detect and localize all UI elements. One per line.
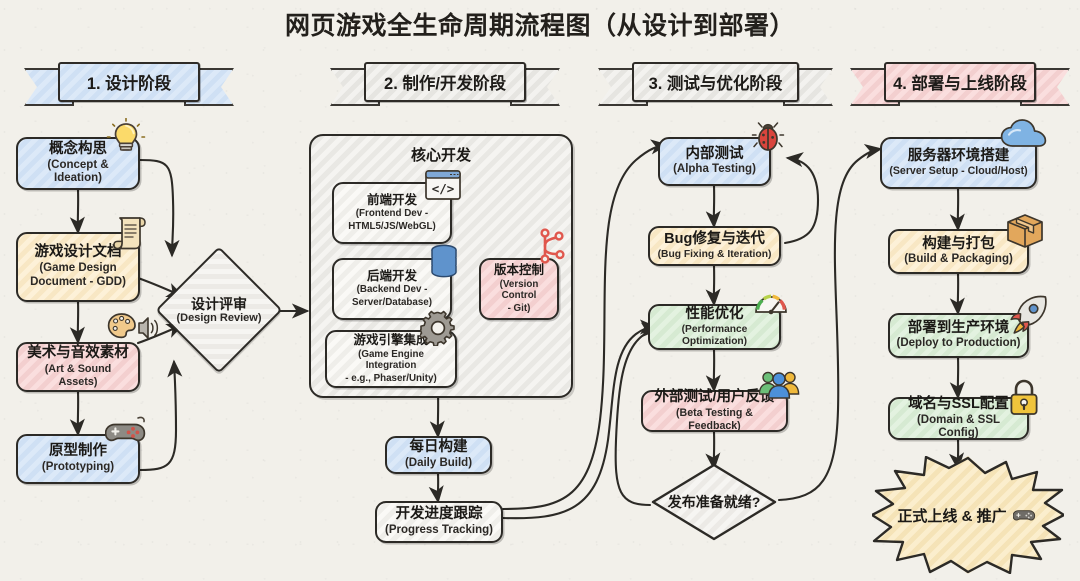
node-alpha-en: (Alpha Testing) — [673, 163, 756, 177]
group-core-development-title: 核心开发 — [311, 144, 571, 165]
phase-banner-label-2: 2. 制作/开发阶段 — [364, 62, 526, 102]
node-server-setup[interactable]: 服务器环境搭建 (Server Setup - Cloud/Host) — [880, 137, 1037, 189]
node-progress-zh: 开发进度跟踪 — [396, 506, 483, 523]
node-design-review[interactable]: 设计评审 (Design Review) — [174, 265, 264, 355]
node-official-launch[interactable]: 正式上线 & 推广 — [872, 456, 1064, 574]
node-bug-fixing[interactable]: Bug修复与迭代 (Bug Fixing & Iteration) — [648, 226, 781, 266]
node-engine-zh: 游戏引擎集成 — [353, 333, 428, 347]
node-server-en: (Server Setup - Cloud/Host) — [889, 165, 1027, 178]
node-beta-en: (Beta Testing & Feedback) — [649, 407, 780, 432]
phase-banner-2: 2. 制作/开发阶段 — [330, 62, 560, 100]
node-perf-en: (Performance Optimization) — [656, 324, 773, 348]
node-alpha-zh: 内部测试 — [686, 146, 744, 163]
node-server-zh: 服务器环境搭建 — [908, 148, 1010, 165]
node-vcs-en-line1: (Version Control — [487, 279, 551, 303]
node-backend-en-line1: (Backend Dev - — [357, 284, 428, 296]
node-progress-tracking[interactable]: 开发进度跟踪 (Progress Tracking) — [375, 501, 503, 543]
node-engine-en-line1: (Game Engine Integration — [333, 349, 449, 373]
phase-banner-label-1: 1. 设计阶段 — [58, 62, 200, 102]
node-backend-dev[interactable]: 后端开发 (Backend Dev - Server/Database) — [332, 258, 452, 320]
node-game-engine-integration[interactable]: 游戏引擎集成 (Game Engine Integration - e.g., … — [325, 330, 457, 388]
node-daily-build-zh: 每日构建 — [410, 439, 468, 456]
node-deploy-production[interactable]: 部署到生产环境 (Deploy to Production) — [888, 313, 1029, 358]
node-gdd-en-line1: (Game Design — [39, 262, 116, 276]
node-domain-ssl[interactable]: 域名与SSL配置 (Domain & SSL Config) — [888, 397, 1029, 440]
node-art-sound-assets[interactable]: 美术与音效素材 (Art & Sound Assets) — [16, 342, 140, 392]
node-daily-build[interactable]: 每日构建 (Daily Build) — [385, 436, 492, 474]
node-frontend-dev[interactable]: 前端开发 (Frontend Dev - HTML5/JS/WebGL) — [332, 182, 452, 244]
node-daily-build-en: (Daily Build) — [405, 457, 472, 471]
node-frontend-zh: 前端开发 — [367, 193, 417, 207]
node-review-en: (Design Review) — [177, 312, 262, 324]
node-beta-zh: 外部测试/用户反馈 — [654, 389, 774, 406]
node-performance-optimization[interactable]: 性能优化 (Performance Optimization) — [648, 304, 781, 350]
node-bugfix-en: (Bug Fixing & Iteration) — [658, 249, 772, 261]
node-package-en: (Build & Packaging) — [904, 253, 1013, 267]
node-vcs-en-line2: - Git) — [508, 303, 531, 315]
node-release-ready[interactable]: 发布准备就绪? — [650, 462, 778, 542]
node-engine-en-line2: - e.g., Phaser/Unity) — [345, 373, 436, 385]
node-deploy-zh: 部署到生产环境 — [908, 320, 1010, 337]
node-gdd-en-line2: Document - GDD) — [30, 276, 126, 290]
phase-banner-label-3: 3. 测试与优化阶段 — [632, 62, 799, 102]
node-prototype-en: (Prototyping) — [42, 461, 114, 475]
node-version-control[interactable]: 版本控制 (Version Control - Git) — [479, 258, 559, 320]
node-frontend-en-line2: HTML5/JS/WebGL) — [348, 221, 435, 233]
node-assets-en: (Art & Sound Assets) — [24, 363, 132, 389]
node-progress-en: (Progress Tracking) — [385, 524, 493, 538]
node-perf-zh: 性能优化 — [686, 306, 744, 323]
phase-banner-3: 3. 测试与优化阶段 — [598, 62, 833, 100]
phase-banner-4: 4. 部署与上线阶段 — [850, 62, 1070, 100]
node-backend-zh: 后端开发 — [367, 269, 417, 283]
node-gdd[interactable]: 游戏设计文档 (Game Design Document - GDD) — [16, 232, 140, 302]
node-concept[interactable]: 概念构思 (Concept & Ideation) — [16, 137, 140, 190]
node-package-zh: 构建与打包 — [922, 236, 995, 253]
phase-banner-label-4: 4. 部署与上线阶段 — [884, 62, 1036, 102]
node-ssl-zh: 域名与SSL配置 — [908, 396, 1009, 413]
node-review-zh: 设计评审 — [177, 296, 262, 312]
phase-banner-1: 1. 设计阶段 — [24, 62, 234, 100]
node-concept-zh: 概念构思 — [49, 141, 107, 158]
page-title: 网页游戏全生命周期流程图（从设计到部署） — [0, 6, 1080, 42]
node-beta-testing[interactable]: 外部测试/用户反馈 (Beta Testing & Feedback) — [641, 390, 788, 432]
node-bugfix-zh: Bug修复与迭代 — [664, 231, 765, 248]
node-alpha-testing[interactable]: 内部测试 (Alpha Testing) — [658, 137, 771, 186]
node-frontend-en-line1: (Frontend Dev - — [356, 208, 428, 220]
node-vcs-zh: 版本控制 — [494, 263, 544, 277]
node-prototyping[interactable]: 原型制作 (Prototyping) — [16, 434, 140, 484]
node-deploy-en: (Deploy to Production) — [897, 337, 1021, 351]
node-ready-zh: 发布准备就绪? — [668, 494, 761, 510]
node-launch-label: 正式上线 & 推广 — [897, 505, 1006, 526]
node-build-packaging[interactable]: 构建与打包 (Build & Packaging) — [888, 229, 1029, 274]
node-gdd-zh: 游戏设计文档 — [35, 244, 122, 261]
node-backend-en-line2: Server/Database) — [352, 297, 432, 309]
node-prototype-zh: 原型制作 — [49, 443, 107, 460]
gamepad-icon — [1013, 506, 1039, 524]
node-ssl-en: (Domain & SSL Config) — [896, 414, 1021, 442]
node-assets-zh: 美术与音效素材 — [27, 345, 129, 362]
node-concept-en: (Concept & Ideation) — [24, 159, 132, 187]
